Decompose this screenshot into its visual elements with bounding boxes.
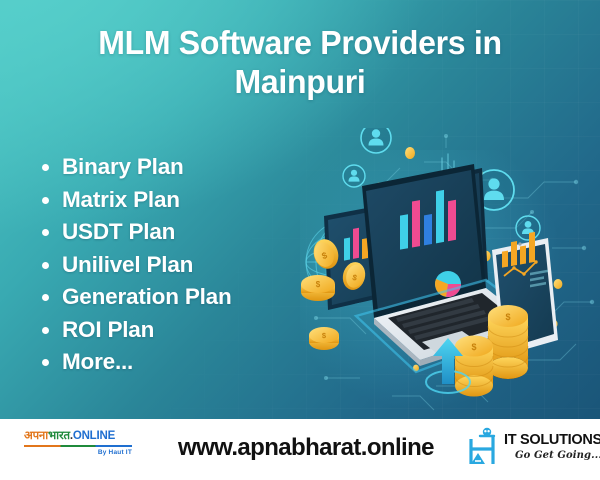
plan-label: Binary Plan bbox=[62, 154, 184, 179]
page-title: MLM Software Providers in Mainpuri bbox=[48, 24, 552, 102]
it-solutions-tagline: Go Get Going... bbox=[504, 451, 600, 461]
brand-online: ONLINE bbox=[73, 430, 115, 442]
list-item: Unilivel Plan bbox=[36, 249, 232, 282]
list-item: Generation Plan bbox=[36, 281, 232, 314]
website-url[interactable]: www.apnabharat.online bbox=[156, 434, 456, 462]
plan-label: Unilivel Plan bbox=[62, 252, 193, 277]
brand-hindi-part2: भारत bbox=[48, 430, 70, 442]
apnabharat-online-logo[interactable]: अपनाभारत.ONLINE By Haut IT bbox=[24, 431, 140, 461]
it-solutions-mark-icon bbox=[466, 427, 500, 467]
brand-tricolor-rule bbox=[24, 445, 132, 447]
brand-byline: By Haut IT bbox=[24, 449, 132, 456]
list-item: Binary Plan bbox=[36, 151, 232, 184]
list-item: ROI Plan bbox=[36, 314, 232, 347]
list-item: USDT Plan bbox=[36, 216, 232, 249]
svg-text:$: $ bbox=[471, 342, 476, 352]
poster-canvas: MLM Software Providers in Mainpuri Binar… bbox=[0, 0, 600, 480]
it-solutions-text-block: IT SOLUTIONS Go Get Going... bbox=[504, 433, 600, 461]
plan-label: USDT Plan bbox=[62, 219, 175, 244]
page-title-line-2: Mainpuri bbox=[234, 63, 365, 100]
it-solutions-logo[interactable]: IT SOLUTIONS Go Get Going... bbox=[466, 426, 592, 468]
plan-label: Generation Plan bbox=[62, 284, 232, 309]
hero-panel: MLM Software Providers in Mainpuri Binar… bbox=[0, 0, 600, 419]
it-solutions-title: IT SOLUTIONS bbox=[504, 433, 600, 448]
plan-list: Binary Plan Matrix Plan USDT Plan Uniliv… bbox=[36, 151, 232, 379]
plan-label: More... bbox=[62, 349, 133, 374]
plan-label: Matrix Plan bbox=[62, 187, 180, 212]
brand-hindi-part1: अपना bbox=[24, 430, 48, 442]
list-item: More... bbox=[36, 346, 232, 379]
analytics-illustration: $ $ $ $ bbox=[296, 128, 600, 419]
page-title-line-1: MLM Software Providers in bbox=[98, 24, 502, 61]
list-item: Matrix Plan bbox=[36, 184, 232, 217]
svg-text:$: $ bbox=[505, 312, 510, 322]
brand-wordmark: अपनाभारत.ONLINE bbox=[24, 431, 140, 443]
svg-text:$: $ bbox=[316, 280, 321, 289]
plan-label: ROI Plan bbox=[62, 317, 154, 342]
